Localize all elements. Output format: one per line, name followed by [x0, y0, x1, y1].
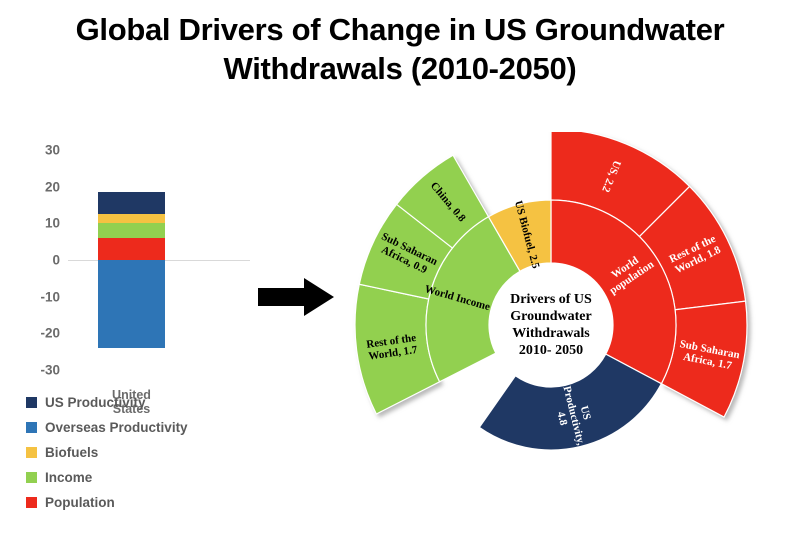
- y-axis-tick-0: 0: [14, 253, 60, 268]
- bar-segment-us-productivity[interactable]: [98, 192, 165, 214]
- legend-item-biofuels[interactable]: Biofuels: [26, 440, 256, 465]
- page-title: Global Drivers of Change in US Groundwat…: [0, 10, 800, 88]
- stacked-bar-chart: 3020100-10-20-30 United States: [0, 140, 250, 400]
- legend-item-label: Overseas Productivity: [45, 420, 188, 435]
- legend-item-label: US Productivity: [45, 395, 146, 410]
- page-title-line-1: Global Drivers of Change in US Groundwat…: [0, 10, 800, 49]
- legend-swatch-icon: [26, 472, 37, 483]
- legend-item-label: Income: [45, 470, 92, 485]
- legend-swatch-icon: [26, 397, 37, 408]
- legend-swatch-icon: [26, 497, 37, 508]
- center-text-line-3: Withdrawals: [485, 325, 617, 342]
- bar-segment-biofuels[interactable]: [98, 214, 165, 223]
- y-axis-tick-10: 10: [14, 216, 60, 231]
- right-arrow-icon: [258, 276, 334, 318]
- sunburst-chart: US, 2.2Rest of theWorld, 1.8Sub SaharanA…: [330, 132, 800, 532]
- center-text-line-1: Drivers of US: [485, 291, 617, 308]
- chart-legend: US ProductivityOverseas ProductivityBiof…: [26, 390, 256, 515]
- center-text-line-4: 2010- 2050: [485, 342, 617, 359]
- bar-segment-population[interactable]: [98, 238, 165, 260]
- bar-stack-united-states[interactable]: [98, 140, 165, 380]
- y-axis-tick-neg30: -30: [14, 363, 60, 378]
- legend-item-us-productivity[interactable]: US Productivity: [26, 390, 256, 415]
- bar-segment-income[interactable]: [98, 223, 165, 238]
- page-title-line-2: Withdrawals (2010-2050): [0, 49, 800, 88]
- legend-item-population[interactable]: Population: [26, 490, 256, 515]
- legend-item-overseas-productivity[interactable]: Overseas Productivity: [26, 415, 256, 440]
- legend-item-income[interactable]: Income: [26, 465, 256, 490]
- bar-segment-overseas-productivity[interactable]: [98, 260, 165, 348]
- legend-item-label: Biofuels: [45, 445, 98, 460]
- legend-item-label: Population: [45, 495, 115, 510]
- y-axis-tick-30: 30: [14, 143, 60, 158]
- legend-swatch-icon: [26, 447, 37, 458]
- sunburst-center-text: Drivers of US Groundwater Withdrawals 20…: [485, 291, 617, 359]
- legend-swatch-icon: [26, 422, 37, 433]
- y-axis-tick-20: 20: [14, 179, 60, 194]
- center-text-line-2: Groundwater: [485, 308, 617, 325]
- y-axis-tick-neg20: -20: [14, 326, 60, 341]
- y-axis-tick-neg10: -10: [14, 289, 60, 304]
